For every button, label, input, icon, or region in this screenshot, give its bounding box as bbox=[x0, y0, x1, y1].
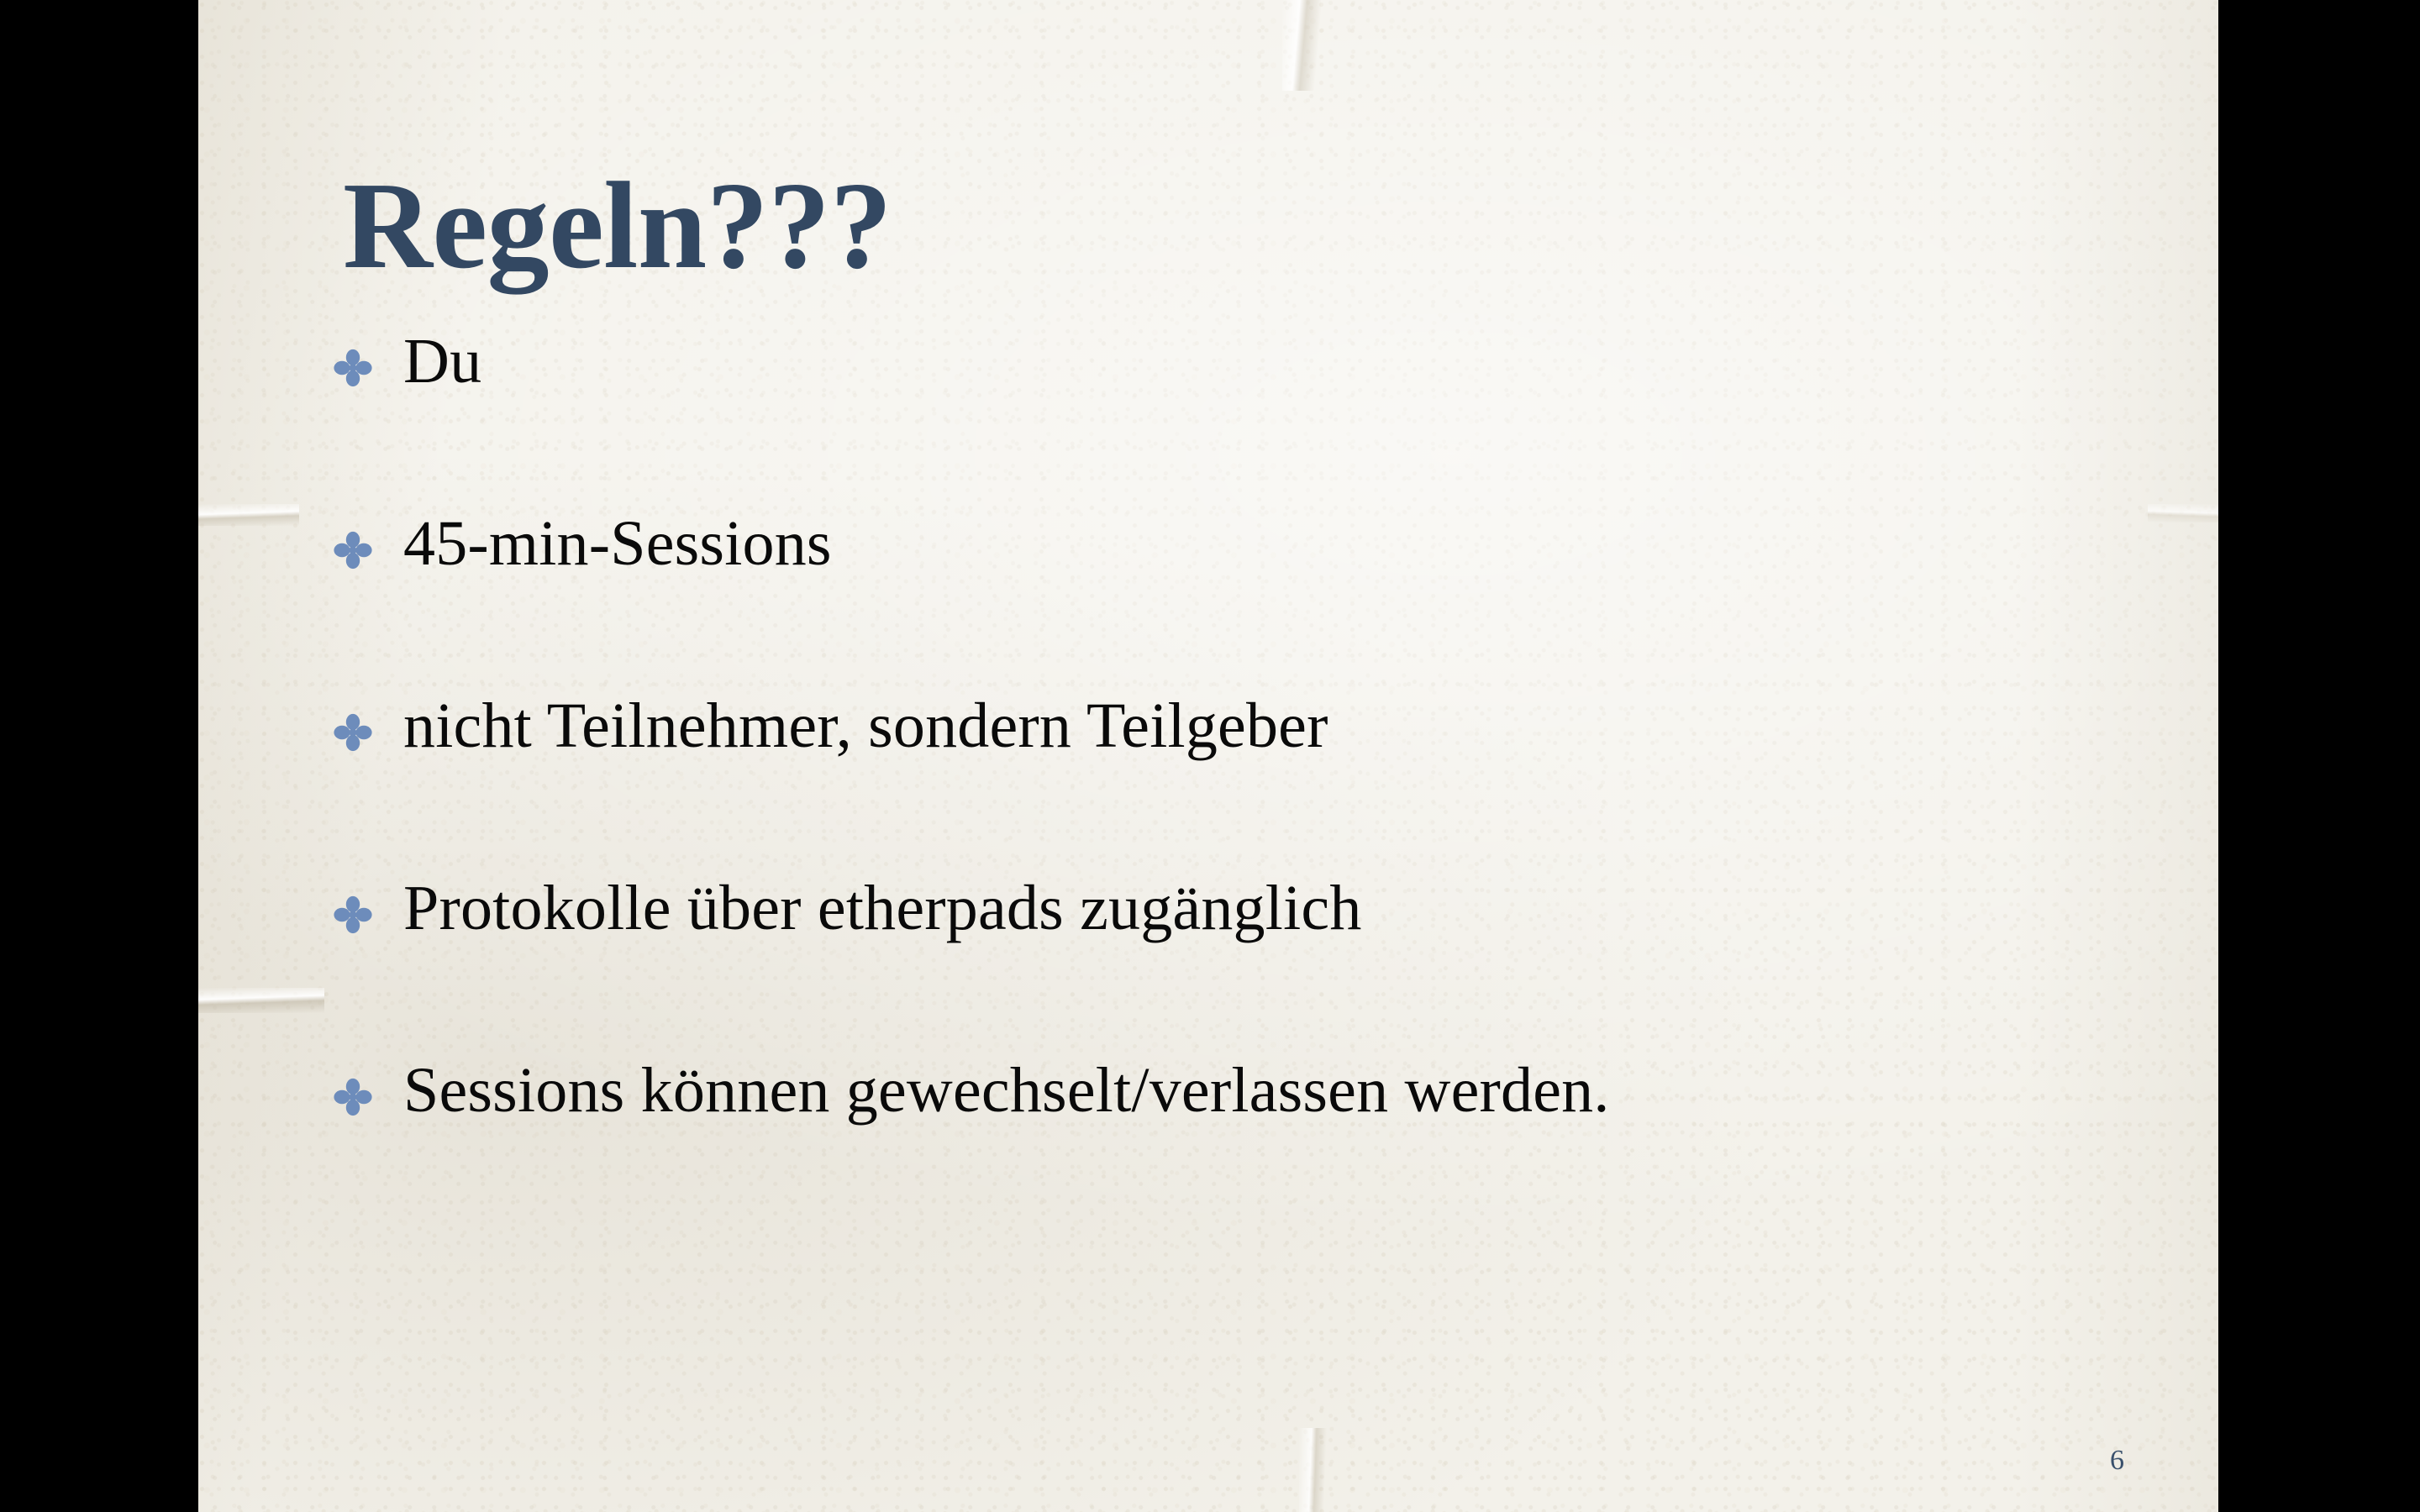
slide-canvas: Regeln??? bbox=[198, 0, 2218, 1512]
list-item-label: 45-min-Sessions bbox=[403, 512, 2165, 575]
list-item-label: Du bbox=[403, 329, 2165, 393]
floral-bullet-icon bbox=[333, 694, 403, 753]
floral-bullet-icon bbox=[333, 876, 403, 935]
list-item-label: Sessions können gewechselt/verlassen wer… bbox=[403, 1058, 2165, 1122]
list-item: Sessions können gewechselt/verlassen wer… bbox=[333, 1058, 2165, 1241]
list-item: Du bbox=[333, 329, 2165, 512]
list-item-label: nicht Teilnehmer, sondern Teilgeber bbox=[403, 694, 2165, 758]
list-item: nicht Teilnehmer, sondern Teilgeber bbox=[333, 694, 2165, 876]
presentation-stage: Regeln??? bbox=[0, 0, 2420, 1512]
floral-bullet-icon bbox=[333, 329, 403, 388]
list-item-label: Protokolle über etherpads zugänglich bbox=[403, 876, 2165, 940]
bullet-list: Du 45-mi bbox=[333, 329, 2165, 1241]
list-item: Protokolle über etherpads zugänglich bbox=[333, 876, 2165, 1058]
floral-bullet-icon bbox=[333, 512, 403, 570]
floral-bullet-icon bbox=[333, 1058, 403, 1117]
slide-content: Regeln??? bbox=[198, 0, 2218, 1512]
list-item: 45-min-Sessions bbox=[333, 512, 2165, 694]
page-number: 6 bbox=[2110, 1446, 2124, 1475]
slide-title: Regeln??? bbox=[343, 164, 892, 288]
